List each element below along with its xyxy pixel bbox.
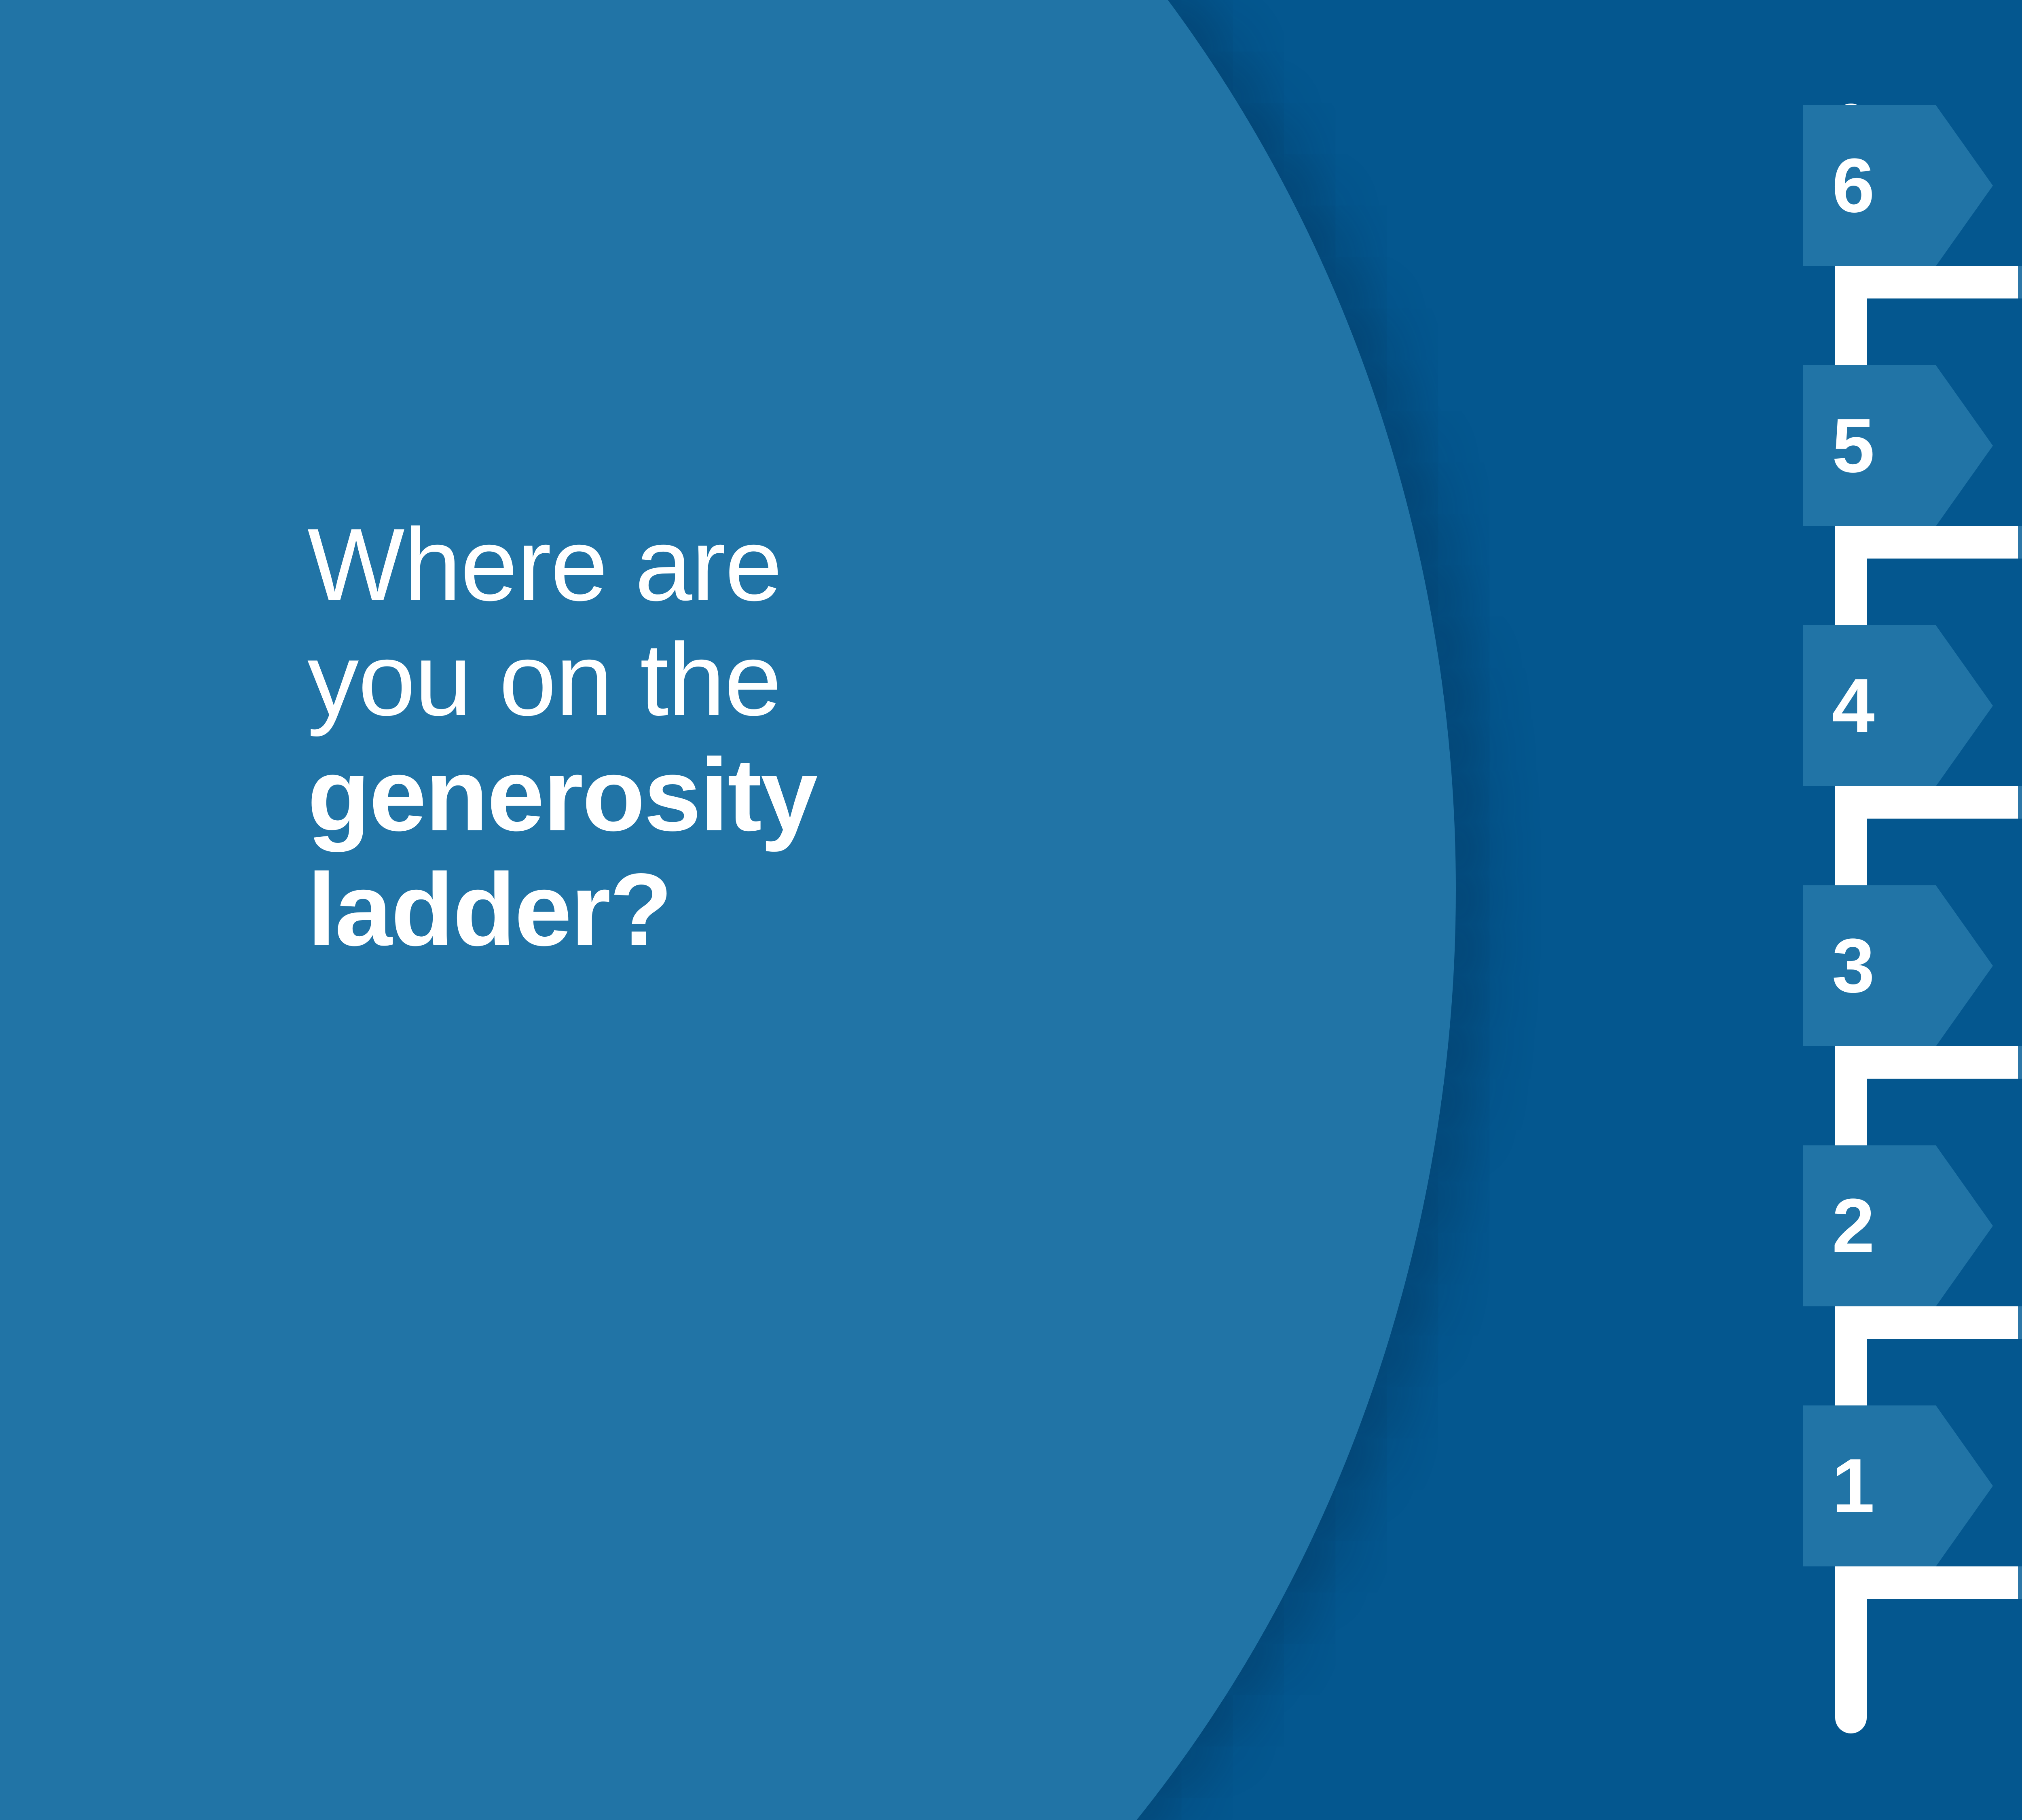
step-number-badge: 4 xyxy=(1803,625,1993,786)
ladder-rung xyxy=(1779,1566,2022,1599)
ladder-step-3[interactable]: 3 Intentional xyxy=(1779,885,2022,1047)
rung-bar xyxy=(1835,266,2022,298)
rung-accent-band xyxy=(2018,1566,2022,1599)
headline-line-3: generosity xyxy=(307,738,1399,853)
ladder-rung xyxy=(1779,1046,2022,1079)
ladder-rung xyxy=(1779,266,2022,298)
step-number-badge: 3 xyxy=(1803,885,1993,1046)
step-label: Abundant xyxy=(2006,365,2022,526)
step-number-badge: 2 xyxy=(1803,1145,1993,1306)
ladder-step-5[interactable]: 5 Abundant xyxy=(1779,365,2022,527)
slide-canvas: Where are you on the generosity ladder? xyxy=(0,0,2022,1820)
step-label: Occasional xyxy=(2006,1145,2022,1306)
rung-bar xyxy=(1835,786,2022,819)
ladder-rung xyxy=(1779,526,2022,559)
step-number-badge: 1 xyxy=(1803,1405,1993,1566)
step-number-badge: 6 xyxy=(1803,105,1993,266)
rung-accent-band xyxy=(2018,526,2022,559)
ladder-step-2[interactable]: 2 Occasional xyxy=(1779,1145,2022,1307)
rung-bar xyxy=(1835,1566,2022,1599)
headline-line-1: Where are xyxy=(307,508,1399,622)
rung-accent-band xyxy=(2018,1306,2022,1339)
rung-accent-band xyxy=(2018,266,2022,298)
step-label: Tithing xyxy=(2006,625,2022,786)
ladder-step-6[interactable]: 6 Supernatural xyxy=(1779,105,2022,267)
generosity-ladder-diagram: 6 Supernatural 5 Abundant 4 Tithing 3 In… xyxy=(1779,81,2022,1747)
step-label: Intentional xyxy=(2006,885,2022,1046)
ladder-step-4[interactable]: 4 Tithing xyxy=(1779,625,2022,787)
rung-bar xyxy=(1835,1306,2022,1339)
ladder-rung xyxy=(1779,786,2022,819)
step-label: First Time xyxy=(2006,1405,2022,1566)
headline-line-2: you on the xyxy=(307,622,1399,737)
page-title: Where are you on the generosity ladder? xyxy=(307,508,1399,967)
step-number-badge: 5 xyxy=(1803,365,1993,526)
rung-accent-band xyxy=(2018,786,2022,819)
rung-bar xyxy=(1835,1046,2022,1079)
headline-line-4: ladder? xyxy=(307,853,1399,967)
ladder-rung xyxy=(1779,1306,2022,1339)
step-label: Supernatural xyxy=(2006,105,2022,266)
rung-accent-band xyxy=(2018,1046,2022,1079)
rung-bar xyxy=(1835,526,2022,559)
ladder-step-1[interactable]: 1 First Time xyxy=(1779,1405,2022,1567)
